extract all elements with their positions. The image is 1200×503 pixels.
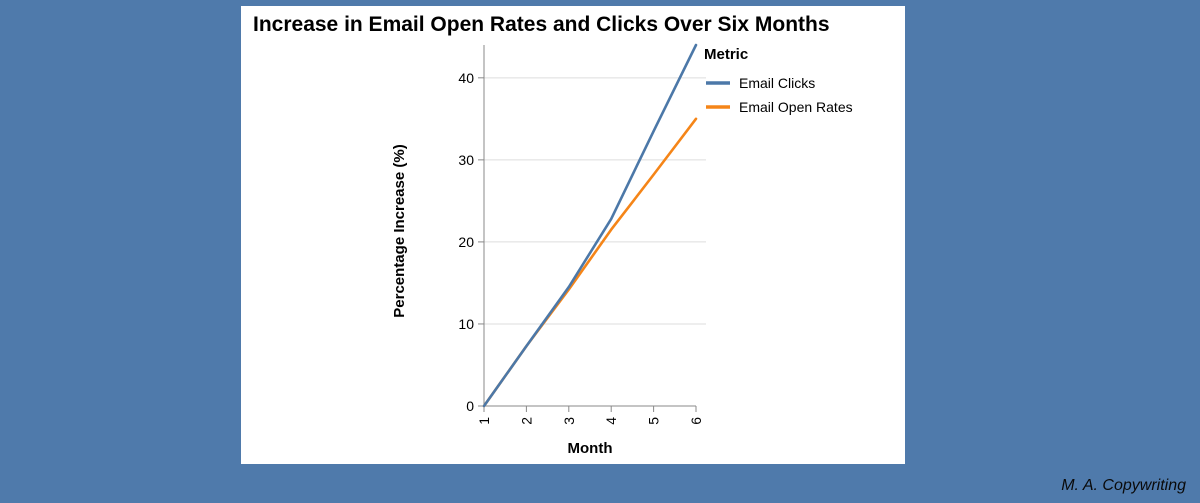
chart-title: Increase in Email Open Rates and Clicks … bbox=[253, 13, 830, 36]
y-tick-label: 10 bbox=[458, 316, 474, 332]
y-tick-label: 0 bbox=[466, 398, 474, 414]
x-tick-label: 6 bbox=[688, 417, 704, 425]
x-tick-label: 2 bbox=[518, 417, 534, 425]
series-line-email-clicks bbox=[484, 45, 696, 406]
legend-title: Metric bbox=[704, 46, 748, 63]
y-tick-label: 20 bbox=[458, 234, 474, 250]
legend-label: Email Clicks bbox=[739, 75, 815, 91]
legend-entries: Email ClicksEmail Open Rates bbox=[706, 75, 853, 115]
line-chart: Increase in Email Open Rates and Clicks … bbox=[241, 6, 905, 464]
legend-entry-email-clicks[interactable]: Email Clicks bbox=[706, 75, 815, 91]
gridlines bbox=[484, 78, 706, 324]
x-tick-label: 3 bbox=[561, 417, 577, 425]
x-tick-label: 1 bbox=[476, 417, 492, 425]
watermark: M. A. Copywriting bbox=[1061, 477, 1186, 495]
y-tick-label: 30 bbox=[458, 152, 474, 168]
chart-card: Increase in Email Open Rates and Clicks … bbox=[241, 6, 905, 464]
y-axis-title: Percentage Increase (%) bbox=[391, 144, 408, 317]
legend-entry-email-open-rates[interactable]: Email Open Rates bbox=[706, 99, 853, 115]
x-axis-ticks: 123456 bbox=[476, 406, 704, 425]
y-axis-ticks: 010203040 bbox=[458, 70, 484, 414]
x-tick-label: 5 bbox=[646, 417, 662, 425]
series-lines bbox=[484, 45, 696, 406]
x-tick-label: 4 bbox=[603, 417, 619, 425]
x-axis-title: Month bbox=[568, 440, 613, 457]
legend-label: Email Open Rates bbox=[739, 99, 853, 115]
y-tick-label: 40 bbox=[458, 70, 474, 86]
